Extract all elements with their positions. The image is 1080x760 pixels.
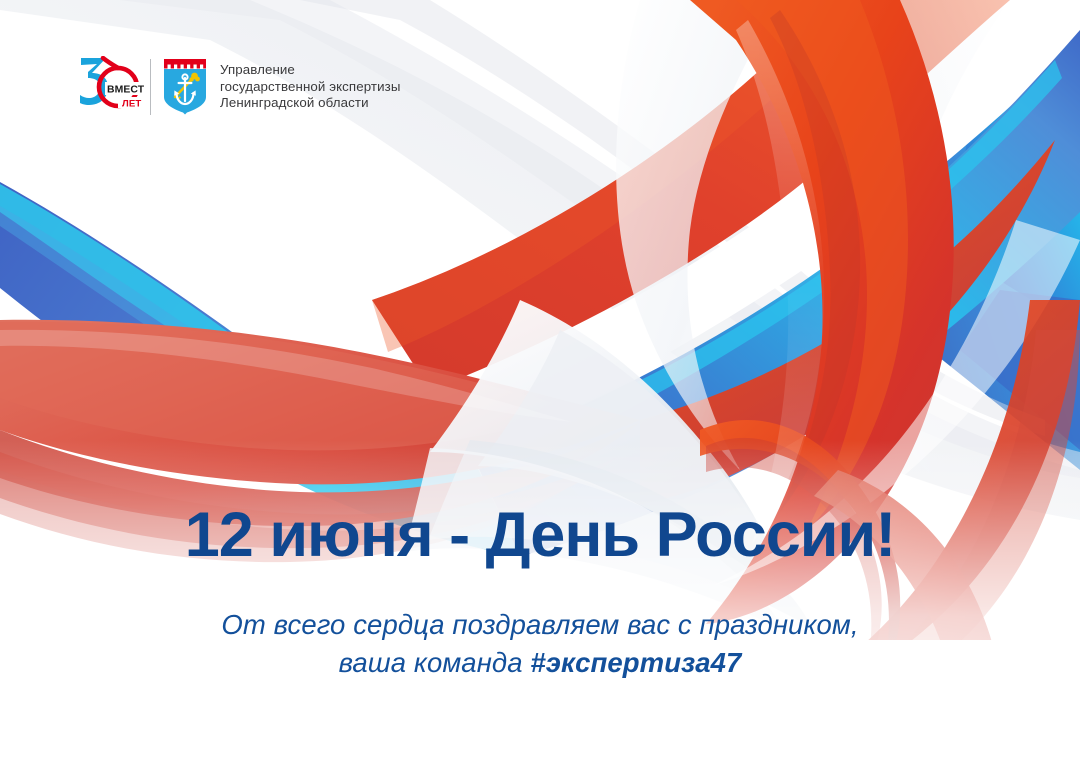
- subtitle-line-2: ваша команда #экспертиза47: [0, 644, 1080, 682]
- svg-text:ЛЕТ: ЛЕТ: [122, 99, 141, 110]
- svg-text:ВМЕСТЕ: ВМЕСТЕ: [107, 84, 144, 95]
- anniversary-36-icon: ВМЕСТЕ ЛЕТ: [78, 56, 144, 118]
- leningrad-oblast-crest-icon: [163, 57, 207, 117]
- anniversary-36-mark: ВМЕСТЕ ЛЕТ: [78, 56, 144, 118]
- logo-divider: [150, 59, 151, 115]
- subtitle-line-2-prefix: ваша команда: [339, 647, 531, 678]
- team-hashtag: #экспертиза47: [530, 647, 741, 678]
- subtitle-line-1: От всего сердца поздравляем вас с праздн…: [221, 609, 858, 640]
- greeting-card: ВМЕСТЕ ЛЕТ: [0, 0, 1080, 760]
- organization-name: Управление государственной экспертизы Ле…: [220, 62, 400, 112]
- brand-header: ВМЕСТЕ ЛЕТ: [78, 56, 400, 118]
- greeting-subtitle: От всего сердца поздравляем вас с праздн…: [0, 606, 1080, 682]
- page-title: 12 июня - День России!: [0, 498, 1080, 572]
